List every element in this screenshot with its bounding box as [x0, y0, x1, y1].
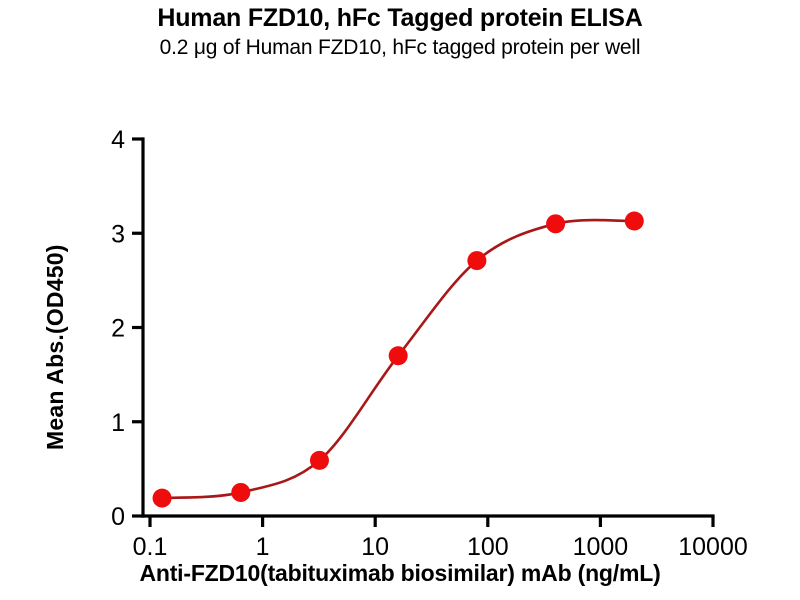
data-point: 400 ng/mL, OD 3.1 [546, 214, 565, 233]
data-point: 3.2 ng/mL, OD 0.59 [310, 451, 329, 470]
y-axis-ticks: 01234 [111, 126, 143, 531]
y-tick-label: 1 [111, 409, 125, 437]
x-tick-label: 100 [467, 533, 509, 561]
y-tick-label: 4 [111, 126, 125, 154]
y-tick-label: 3 [111, 220, 125, 248]
data-point: 0.128 ng/mL, OD 0.19 [153, 489, 172, 508]
data-point: 2000 ng/mL, OD 3.13 [625, 212, 644, 231]
data-points: 0.128 ng/mL, OD 0.190.64 ng/mL, OD 0.253… [153, 212, 644, 508]
y-tick-label: 0 [111, 503, 125, 531]
x-axis-label: Anti-FZD10(tabituximab biosimilar) mAb (… [0, 560, 800, 587]
data-point: 16 ng/mL, OD 1.7 [389, 346, 408, 365]
x-tick-label: 0.1 [133, 533, 168, 561]
x-tick-label: 10000 [678, 533, 748, 561]
y-tick-label: 2 [111, 315, 125, 343]
x-axis-ticks: 0.1110100100010000 [133, 516, 748, 561]
chart-page: Human FZD10, hFc Tagged protein ELISA 0.… [0, 0, 800, 600]
x-tick-label: 10 [361, 533, 389, 561]
x-tick-label: 1000 [573, 533, 629, 561]
axes [143, 139, 713, 516]
x-tick-label: 1 [256, 533, 270, 561]
y-axis-label: Mean Abs.(OD450) [42, 244, 69, 450]
elisa-plot: 0.1110100100010000 01234 0.128 ng/mL, OD… [0, 0, 800, 600]
data-point: 80 ng/mL, OD 2.71 [467, 251, 486, 270]
data-point: 0.64 ng/mL, OD 0.25 [231, 483, 250, 502]
